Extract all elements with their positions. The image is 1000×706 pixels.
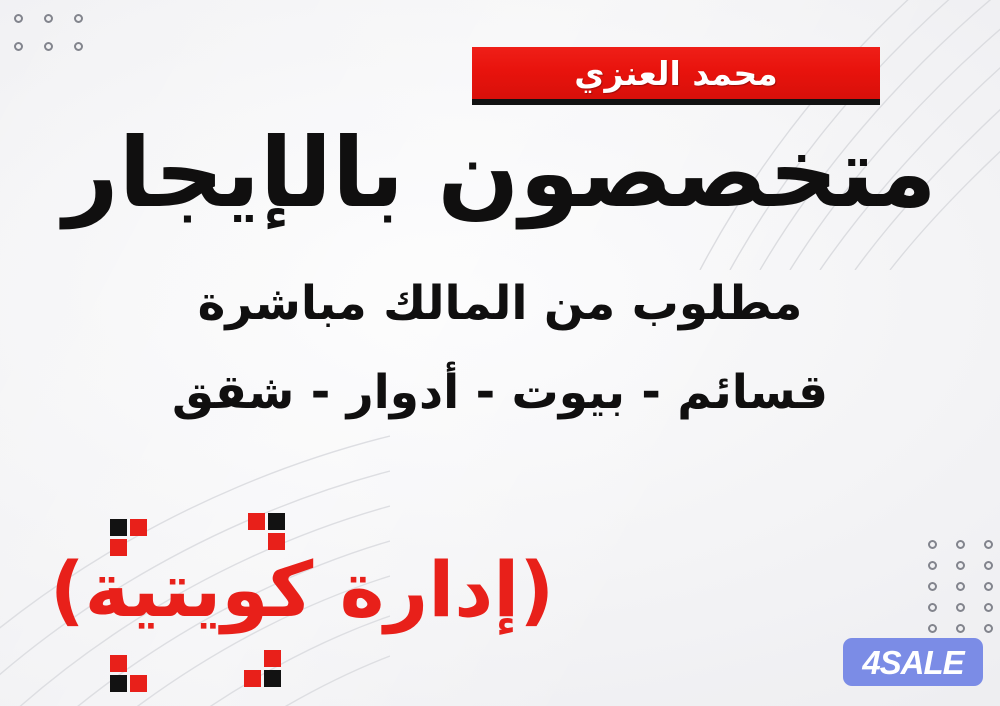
advertisement-canvas: محمد العنزي متخصصون بالإيجار مطلوب من ال…: [0, 0, 1000, 706]
ring-dot-icon: [928, 582, 937, 591]
dot-grid-top-left: [14, 14, 104, 70]
square-red-icon: [264, 650, 281, 667]
ring-dot-icon: [984, 624, 993, 633]
subtitle-owner-direct: مطلوب من المالك مباشرة: [0, 278, 1000, 330]
ring-dot-icon: [984, 540, 993, 549]
dot-grid-right: [928, 540, 1000, 645]
management-note: (إدارة كويتية): [2, 552, 602, 628]
ring-dot-icon: [928, 624, 937, 633]
ring-dot-icon: [984, 603, 993, 612]
ring-dot-icon: [928, 603, 937, 612]
square-red-icon: [268, 533, 285, 550]
square-motif-bottom-right: [244, 650, 284, 690]
ring-dot-icon: [984, 561, 993, 570]
ring-dot-icon: [14, 42, 23, 51]
ring-dot-icon: [956, 603, 965, 612]
square-red-icon: [130, 675, 147, 692]
advertiser-name-banner: محمد العنزي: [472, 47, 880, 99]
4sale-logo-label: 4SALE: [862, 646, 963, 679]
square-black-icon: [110, 519, 127, 536]
ring-dot-icon: [956, 540, 965, 549]
ring-dot-icon: [44, 42, 53, 51]
square-black-icon: [268, 513, 285, 530]
square-black-icon: [264, 670, 281, 687]
ring-dot-icon: [44, 14, 53, 23]
square-red-icon: [130, 519, 147, 536]
ring-dot-icon: [74, 14, 83, 23]
square-motif-bottom-left: [110, 655, 150, 695]
square-red-icon: [244, 670, 261, 687]
ring-dot-icon: [984, 582, 993, 591]
subtitle-property-types: قسائم - بيوت - أدوار - شقق: [0, 367, 1000, 419]
ring-dot-icon: [956, 624, 965, 633]
square-motif-top-left: [110, 519, 150, 559]
ring-dot-icon: [74, 42, 83, 51]
ring-dot-icon: [956, 582, 965, 591]
ring-dot-icon: [956, 561, 965, 570]
advertiser-name: محمد العنزي: [574, 57, 777, 90]
page-title: متخصصون بالإيجار: [0, 122, 1000, 226]
ring-dot-icon: [14, 14, 23, 23]
4sale-logo[interactable]: 4SALE: [843, 638, 983, 686]
ring-dot-icon: [928, 561, 937, 570]
ring-dot-icon: [928, 540, 937, 549]
square-red-icon: [248, 513, 265, 530]
square-motif-top-right: [248, 513, 288, 553]
square-red-icon: [110, 655, 127, 672]
square-red-icon: [110, 539, 127, 556]
square-black-icon: [110, 675, 127, 692]
